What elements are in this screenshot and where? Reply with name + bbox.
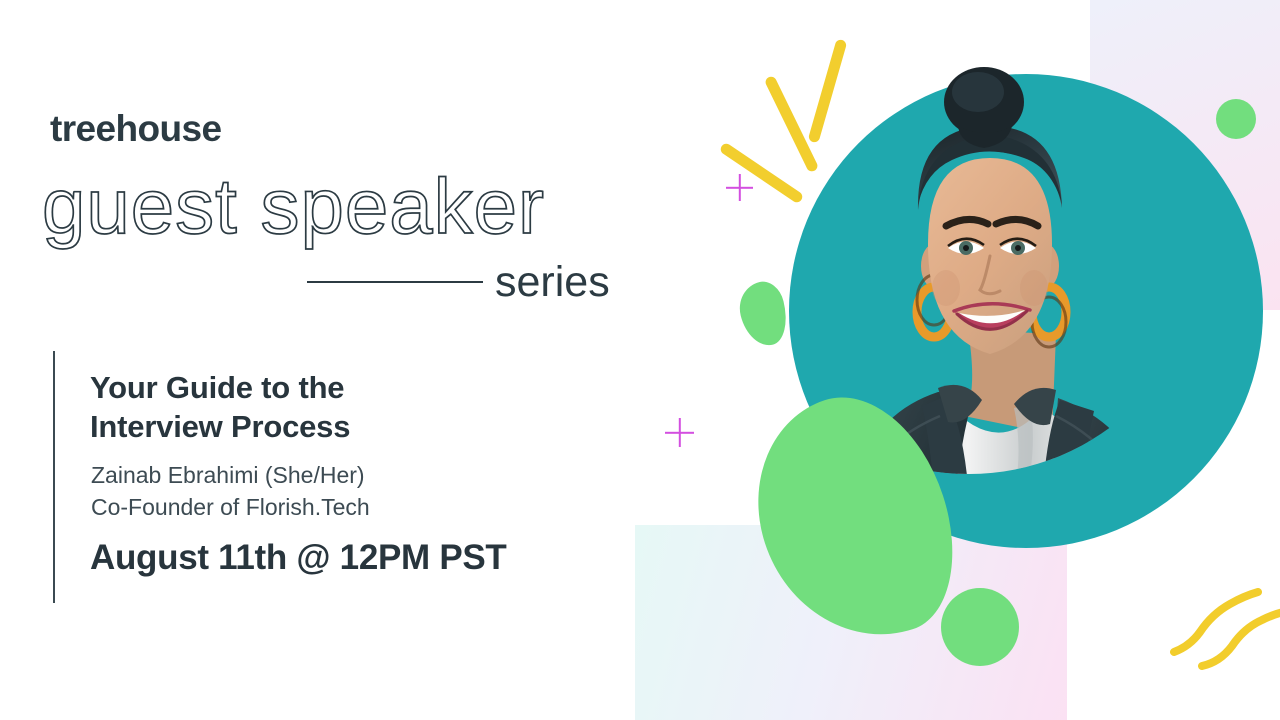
talk-title: Your Guide to the Interview Process <box>90 368 560 447</box>
green-bean-shape <box>734 278 793 351</box>
speaker-name: Zainab Ebrahimi (She/Her) <box>91 462 365 488</box>
series-label: series <box>495 258 610 307</box>
presentation-slide: treehouse guest speaker series Your Guid… <box>0 0 1280 720</box>
green-circle-bottom <box>941 588 1019 666</box>
headline-outline-text: guest speaker <box>36 157 656 257</box>
magenta-plus-icon-lower <box>665 418 694 447</box>
speaker-role: Co-Founder of Florish.Tech <box>91 494 370 520</box>
talk-title-line2: Interview Process <box>90 409 350 444</box>
magenta-plus-icon-upper <box>726 174 753 201</box>
event-datetime: August 11th @ 12PM PST <box>90 538 507 578</box>
brand-wordmark: treehouse <box>50 108 221 150</box>
svg-text:guest speaker: guest speaker <box>42 162 545 250</box>
speaker-info: Zainab Ebrahimi (She/Her) Co-Founder of … <box>91 460 561 523</box>
yellow-ray-icon <box>764 75 819 173</box>
talk-title-line1: Your Guide to the <box>90 370 344 405</box>
series-divider-rule <box>307 281 483 283</box>
session-accent-rule <box>53 351 55 603</box>
yellow-wavy-lines <box>1168 588 1280 688</box>
